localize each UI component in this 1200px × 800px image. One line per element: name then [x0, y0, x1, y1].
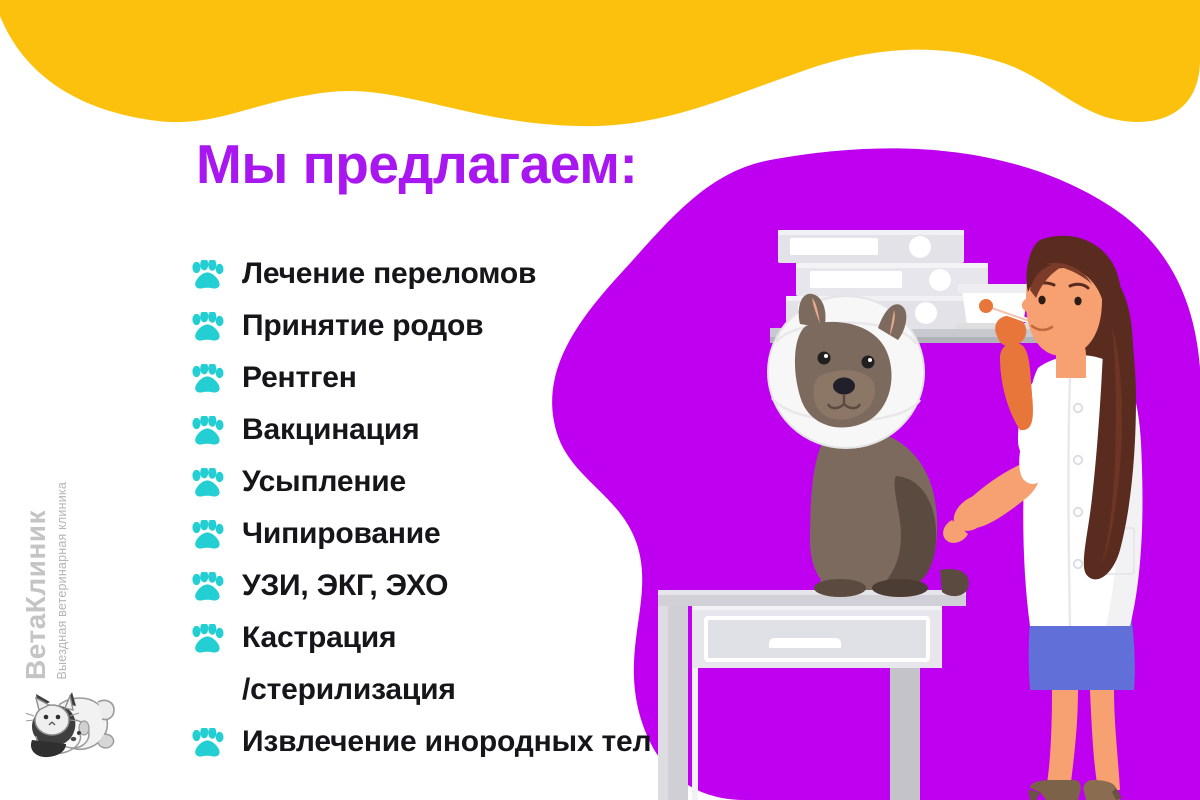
list-item-label: Принятие родов	[242, 300, 483, 352]
yellow-wave-shape	[0, 0, 1200, 126]
veterinarian-examining-dog-illustration	[600, 130, 1200, 800]
brand-tagline: Выездная ветеринарная клиника	[56, 480, 69, 680]
page-title: Мы предлагаем:	[196, 136, 637, 194]
paw-print-icon	[190, 260, 224, 290]
brand-strip: ВетаКлиник Выездная ветеринарная клиника	[22, 390, 118, 680]
list-item-label: Извлечение инородных тел	[242, 716, 651, 768]
examination-table	[658, 590, 966, 800]
list-item-label: Чипирование	[242, 508, 441, 560]
poster-canvas: Мы предлагаем: Лечение переломов Приняти…	[0, 0, 1200, 800]
paw-print-icon	[190, 416, 224, 446]
list-item-label: Рентген	[242, 352, 357, 404]
brand-name: ВетаКлиник	[22, 510, 50, 680]
list-item-label: Лечение переломов	[242, 248, 536, 300]
paw-print-icon	[190, 624, 224, 654]
paw-print-icon	[190, 520, 224, 550]
list-item-label: Кастрация	[242, 612, 396, 664]
list-item-label: УЗИ, ЭКГ, ЭХО	[242, 560, 448, 612]
list-item-label: /стерилизация	[242, 664, 456, 716]
paw-print-icon	[190, 312, 224, 342]
list-item-label: Усыпление	[242, 456, 406, 508]
paw-print-icon	[190, 364, 224, 394]
paw-print-icon	[190, 728, 224, 758]
paw-print-icon	[190, 572, 224, 602]
list-item-label: Вакцинация	[242, 404, 419, 456]
cat-and-dog-logo-icon	[26, 660, 118, 765]
paw-print-icon	[190, 468, 224, 498]
